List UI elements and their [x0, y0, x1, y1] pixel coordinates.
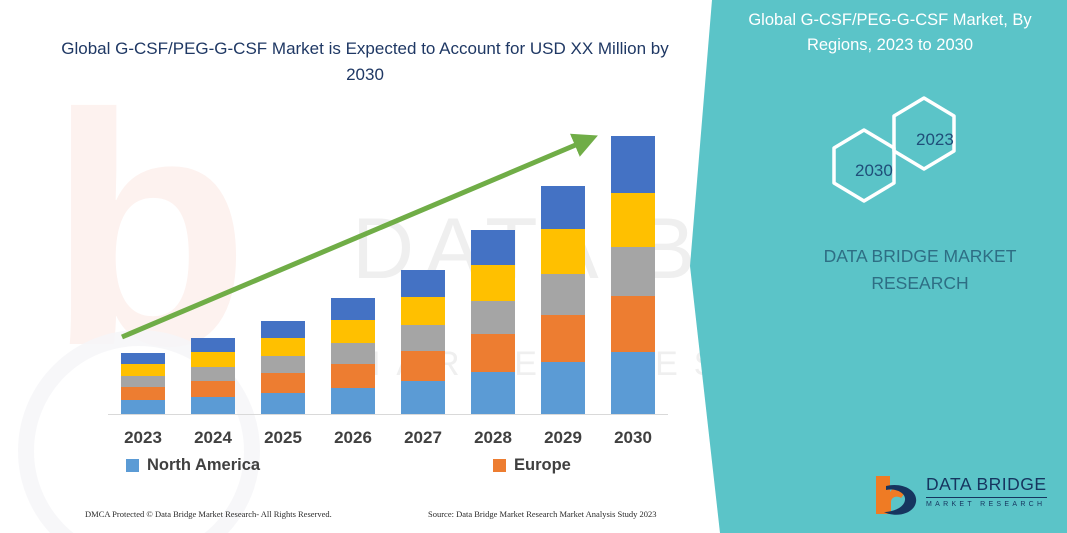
legend-label-europe: Europe — [514, 456, 571, 475]
chart-title: Global G-CSF/PEG-G-CSF Market is Expecte… — [60, 36, 670, 88]
x-axis-labels: 20232024202520262027202820292030 — [108, 428, 668, 456]
legend-item-europe[interactable]: Europe — [493, 456, 571, 475]
brand-line-2: RESEARCH — [790, 270, 1050, 297]
x-label-2025: 2025 — [248, 428, 318, 448]
footer-source: Source: Data Bridge Market Research Mark… — [428, 509, 657, 519]
legend-swatch-europe — [493, 459, 506, 472]
brand-name: DATA BRIDGE MARKET RESEARCH — [790, 243, 1050, 297]
legend-label-north-america: North America — [147, 456, 260, 475]
x-label-2028: 2028 — [458, 428, 528, 448]
footer: DMCA Protected © Data Bridge Market Rese… — [0, 507, 700, 527]
footer-copyright: DMCA Protected © Data Bridge Market Rese… — [85, 509, 332, 519]
x-label-2023: 2023 — [108, 428, 178, 448]
trend-arrow-line — [122, 141, 585, 337]
company-logo: DATA BRIDGE MARKET RESEARCH — [868, 472, 1048, 520]
x-label-2026: 2026 — [318, 428, 388, 448]
x-axis-line — [108, 414, 668, 415]
legend-swatch-north-america — [126, 459, 139, 472]
hexagon-label-2023: 2023 — [916, 130, 954, 150]
hexagon-svg — [820, 88, 1000, 208]
x-label-2029: 2029 — [528, 428, 598, 448]
chart-legend: North America Europe — [108, 456, 668, 482]
hexagon-label-2030: 2030 — [855, 161, 893, 181]
logo-subtitle: MARKET RESEARCH — [926, 501, 1047, 508]
hexagon-badges — [820, 88, 1000, 208]
x-label-2030: 2030 — [598, 428, 668, 448]
panel-title: Global G-CSF/PEG-G-CSF Market, By Region… — [730, 8, 1050, 58]
x-label-2027: 2027 — [388, 428, 458, 448]
x-label-2024: 2024 — [178, 428, 248, 448]
legend-item-north-america[interactable]: North America — [126, 456, 260, 475]
logo-title: DATA BRIDGE — [926, 474, 1047, 498]
brand-line-1: DATA BRIDGE MARKET — [790, 243, 1050, 270]
market-infographic: b DATA BRIDGE MARKET RESEARCH Global G-C… — [0, 0, 1067, 533]
logo-mark-icon — [868, 472, 924, 518]
logo-text: DATA BRIDGE MARKET RESEARCH — [926, 474, 1047, 508]
